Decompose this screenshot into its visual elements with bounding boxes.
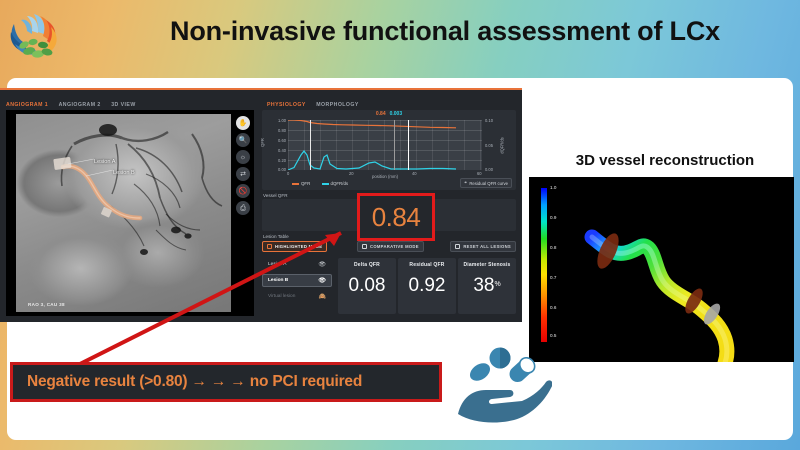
y-tick-4: 0.80 <box>264 128 286 133</box>
chart-cursor-mid[interactable] <box>394 120 395 170</box>
highlighted-mode-button[interactable]: HIGHLIGHTED MODE <box>262 241 327 252</box>
y-tick-2: 0.40 <box>264 148 286 153</box>
vessel-qfr-highlight-box: 0.84 <box>357 193 435 241</box>
metric-card-delta-qfr: Delta QFR 0.08 <box>338 258 396 314</box>
hide-contour-icon[interactable]: 🚫 <box>236 184 250 198</box>
chart-cursor-proximal[interactable] <box>310 120 311 170</box>
angiogram-lesion-b-label: Lesion B <box>113 170 135 176</box>
y-tick-1: 0.20 <box>264 158 286 163</box>
y-tick-3: 0.60 <box>264 138 286 143</box>
chart-cursor-qfr: 0.84 <box>376 111 386 117</box>
virtual-lesion-name: Virtual lesion <box>268 294 295 299</box>
page-title: Non-invasive functional assessment of LC… <box>100 16 790 47</box>
qfr-pullback-chart[interactable]: 0.840.003 QFR 1.00 0.80 0.60 0.40 0.20 0… <box>262 110 516 190</box>
app-accent-line <box>0 88 522 90</box>
eye-icon[interactable]: 👁 <box>318 261 326 268</box>
delta-qfr-value: 0.08 <box>338 275 396 297</box>
residual-qfr-curve-label: Residual QFR curve <box>469 181 508 186</box>
diameter-stenosis-value: 38% <box>458 275 516 297</box>
compare-icon[interactable]: ⇄ <box>236 167 250 181</box>
metric-card-diameter-stenosis: Diameter Stenosis 38% <box>458 258 516 314</box>
chart-legend: QFR dQFR/ds <box>292 181 358 186</box>
curve-icon: ⚭ <box>464 180 468 186</box>
series-qfr-line <box>288 120 456 128</box>
result-callout: Negative result (>0.80) → → → no PCI req… <box>10 362 442 402</box>
magnifier-icon[interactable]: 🔍 <box>236 133 250 147</box>
slide-title-bar: Non-invasive functional assessment of LC… <box>0 0 800 74</box>
reset-all-lesions-label: RESET ALL LESIONS <box>463 244 511 249</box>
delta-qfr-title: Delta QFR <box>338 262 396 268</box>
angiogram-lesion-a-label: Lesion A <box>94 159 115 165</box>
comparative-mode-button[interactable]: COMPARATIVE MODE <box>357 241 424 252</box>
lesion-row-virtual[interactable]: Virtual lesion 🙈 <box>262 290 332 303</box>
angiogram-projection-label: RAO 3, CAU 38 <box>28 302 65 307</box>
angiogram-viewport[interactable]: Lesion A Lesion B RAO 3, CAU 38 ✋ 🔍 ☼ ⇄ … <box>6 110 254 316</box>
pan-hand-icon[interactable]: ✋ <box>236 116 250 130</box>
y2-tick-0: 0.00 <box>485 167 507 172</box>
physiology-panel: 0.840.003 QFR 1.00 0.80 0.60 0.40 0.20 0… <box>260 110 518 316</box>
export-icon[interactable]: ⎙ <box>236 201 250 215</box>
analysis-tab-group: PHYSIOLOGY MORPHOLOGY <box>267 93 365 111</box>
columns-icon <box>362 244 367 249</box>
legend-item-dqfr[interactable]: dQFR/ds <box>322 181 349 186</box>
square-icon <box>267 244 272 249</box>
residual-qfr-value: 0.92 <box>398 275 456 297</box>
percent-unit: % <box>494 281 500 288</box>
qfr-application-window: ANGIOGRAM 1 ANGIOGRAM 2 3D VIEW PHYSIOLO… <box>0 88 522 322</box>
brightness-icon[interactable]: ☼ <box>236 150 250 164</box>
lesion-row-a[interactable]: Lesion A 👁 <box>262 258 332 271</box>
lesion-b-name: Lesion B <box>268 278 288 283</box>
residual-qfr-title: Residual QFR <box>398 262 456 268</box>
reset-icon <box>455 244 460 249</box>
lesion-mode-toolbar: HIGHLIGHTED MODE COMPARATIVE MODE RESET … <box>262 241 516 252</box>
lesion-row-b[interactable]: Lesion B 👁 <box>262 274 332 287</box>
residual-qfr-curve-button[interactable]: ⚭ Residual QFR curve <box>460 178 512 188</box>
chart-cursor-values: 0.840.003 <box>262 111 516 117</box>
highlighted-mode-label: HIGHLIGHTED MODE <box>275 244 322 249</box>
angiogram-image: Lesion A Lesion B RAO 3, CAU 38 <box>16 114 231 312</box>
y-tick-5: 1.00 <box>264 118 286 123</box>
angiogram-toolbar: ✋ 🔍 ☼ ⇄ 🚫 ⎙ <box>235 116 251 215</box>
lesion-list: Lesion A 👁 Lesion B 👁 Virtual lesion 🙈 <box>262 258 332 306</box>
lesion-a-name: Lesion A <box>268 262 286 267</box>
lesion-table-label: Lesion Table <box>263 234 289 239</box>
chart-cursor-distal[interactable] <box>408 120 409 170</box>
spiral-nautilus-logo <box>6 8 66 68</box>
series-dqfr-line <box>288 151 456 170</box>
legend-item-qfr[interactable]: QFR <box>292 181 310 186</box>
eye-off-icon[interactable]: 🙈 <box>319 293 326 300</box>
diameter-stenosis-title: Diameter Stenosis <box>458 262 516 268</box>
3d-vessel-mesh <box>529 177 794 362</box>
result-callout-text: Negative result (>0.80) → → → no PCI req… <box>27 373 362 391</box>
y2-tick-2: 0.10 <box>485 118 507 123</box>
eye-icon[interactable]: 👁 <box>318 277 326 284</box>
chart-cursor-dqfr: 0.003 <box>390 111 403 117</box>
comparative-mode-label: COMPARATIVE MODE <box>370 244 419 249</box>
angiogram-tab-group: ANGIOGRAM 1 ANGIOGRAM 2 3D VIEW <box>6 93 142 111</box>
y-tick-0: 0.00 <box>264 167 286 172</box>
recon-title: 3D vessel reconstruction <box>545 152 785 169</box>
chart-x-axis-label: position (mm) <box>288 174 482 179</box>
chart-plot-area <box>288 120 482 170</box>
hand-holding-pills-icon <box>452 344 552 424</box>
metric-card-residual-qfr: Residual QFR 0.92 <box>398 258 456 314</box>
3d-vessel-reconstruction-viewport[interactable]: 1.0 0.9 0.8 0.7 0.6 0.5 <box>529 177 794 362</box>
chart-y2-axis-label: dQFR/ds <box>500 137 505 153</box>
reset-all-lesions-button[interactable]: RESET ALL LESIONS <box>450 241 516 252</box>
vessel-qfr-label: Vessel QFR <box>263 193 288 198</box>
vessel-qfr-value: 0.84 <box>372 202 421 233</box>
